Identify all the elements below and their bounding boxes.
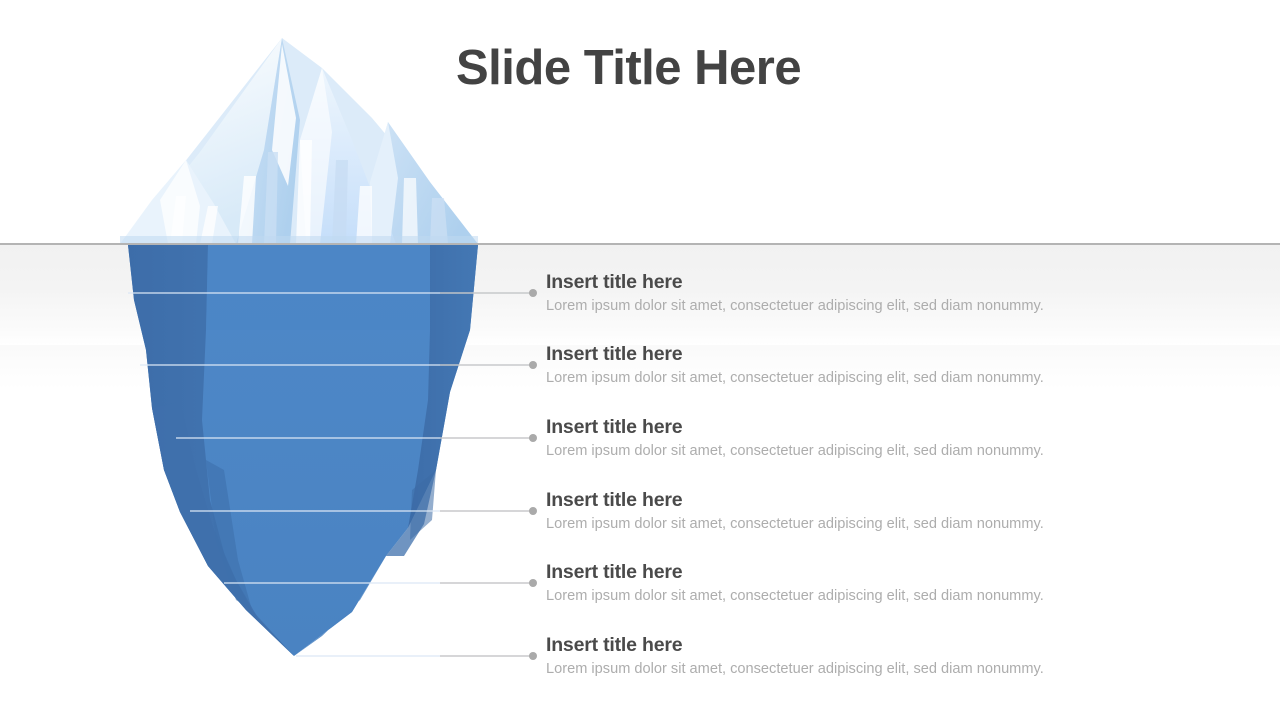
info-item-heading: Insert title here	[546, 343, 1146, 365]
info-item-body: Lorem ipsum dolor sit amet, consectetuer…	[546, 368, 1146, 388]
info-item-body: Lorem ipsum dolor sit amet, consectetuer…	[546, 586, 1146, 606]
info-item: Insert title here Lorem ipsum dolor sit …	[546, 489, 1146, 534]
info-item: Insert title here Lorem ipsum dolor sit …	[546, 271, 1146, 316]
info-item-body: Lorem ipsum dolor sit amet, consectetuer…	[546, 514, 1146, 534]
info-item-heading: Insert title here	[546, 489, 1146, 511]
info-item-body: Lorem ipsum dolor sit amet, consectetuer…	[546, 659, 1146, 679]
info-item: Insert title here Lorem ipsum dolor sit …	[546, 561, 1146, 606]
info-item: Insert title here Lorem ipsum dolor sit …	[546, 634, 1146, 679]
info-item-body: Lorem ipsum dolor sit amet, consectetuer…	[546, 441, 1146, 461]
info-item-heading: Insert title here	[546, 416, 1146, 438]
info-item: Insert title here Lorem ipsum dolor sit …	[546, 343, 1146, 388]
page-title: Slide Title Here	[456, 40, 801, 96]
ice-crevasse-7	[402, 178, 418, 244]
info-item-body: Lorem ipsum dolor sit amet, consectetuer…	[546, 296, 1146, 316]
slide-canvas: Slide Title Here Insert title here Lorem…	[0, 0, 1280, 720]
info-item-heading: Insert title here	[546, 561, 1146, 583]
info-item: Insert title here Lorem ipsum dolor sit …	[546, 416, 1146, 461]
waterline	[0, 243, 1280, 245]
info-item-heading: Insert title here	[546, 271, 1146, 293]
iceberg-mid-band	[206, 245, 430, 330]
info-item-heading: Insert title here	[546, 634, 1146, 656]
